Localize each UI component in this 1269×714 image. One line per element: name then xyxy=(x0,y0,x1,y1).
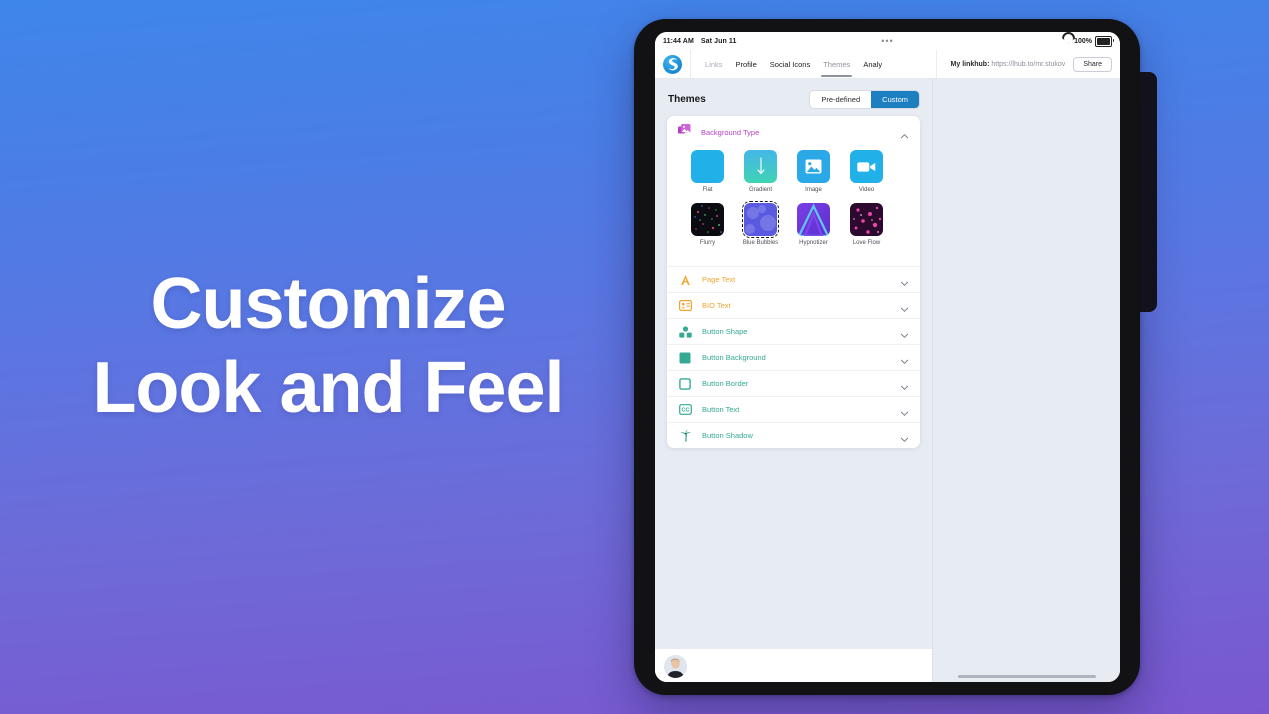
chevron-down-icon[interactable] xyxy=(900,301,909,310)
chevron-down-icon[interactable] xyxy=(900,431,909,440)
row-button-shadow[interactable]: Button Shadow xyxy=(667,423,920,448)
filled-square-icon xyxy=(678,351,692,364)
id-card-icon xyxy=(678,299,692,312)
tab-themes[interactable]: Themes xyxy=(823,54,850,75)
chevron-down-icon[interactable] xyxy=(900,275,909,284)
cc-icon: CC xyxy=(678,403,692,416)
row-bio-text[interactable]: BIO Text xyxy=(667,293,920,319)
hero-headline: Customize Look and Feel xyxy=(68,262,588,430)
segment-custom[interactable]: Custom xyxy=(871,91,919,108)
palm-tree-icon xyxy=(678,429,692,442)
row-button-text[interactable]: CC Button Text xyxy=(667,397,920,423)
background-option-love-flow[interactable]: Love Flow xyxy=(840,203,893,246)
tab-social-icons[interactable]: Social Icons xyxy=(770,54,810,75)
row-label: Button Shadow xyxy=(702,431,753,440)
background-option-label: Flat xyxy=(681,187,734,193)
nav-tabs: Links Profile Social Icons Themes Analy xyxy=(691,50,882,78)
share-button[interactable]: Share xyxy=(1073,57,1112,72)
background-option-image[interactable]: Image xyxy=(787,150,840,193)
themes-panel-header: Themes Pre-defined Custom xyxy=(655,79,932,116)
background-option-label: Video xyxy=(840,187,893,193)
image-stack-icon xyxy=(678,123,691,141)
tab-profile[interactable]: Profile xyxy=(736,54,757,75)
love-flow-icon xyxy=(850,203,883,236)
status-bar-right: 100% xyxy=(1062,36,1112,47)
background-option-label: Blue Bubbles xyxy=(734,240,787,246)
background-option-label: Flurry xyxy=(681,240,734,246)
battery-icon xyxy=(1095,36,1112,47)
workspace: Themes Pre-defined Custom xyxy=(655,79,1120,682)
theme-mode-segmented: Pre-defined Custom xyxy=(810,91,919,108)
background-option-gradient[interactable]: Gradient xyxy=(734,150,787,193)
background-option-flurry[interactable]: Flurry xyxy=(681,203,734,246)
battery-percent: 100% xyxy=(1074,38,1092,45)
row-button-shape[interactable]: Button Shape xyxy=(667,319,920,345)
outline-square-icon xyxy=(678,377,692,390)
linkhub-url[interactable]: https://lhub.to/mr.stukov xyxy=(991,61,1065,68)
app-footer xyxy=(655,649,932,682)
hypnotizer-icon xyxy=(797,203,830,236)
chevron-up-icon[interactable] xyxy=(900,128,909,137)
tablet-device: 11:44 AM Sat Jun 11 ••• 100% Links Profi… xyxy=(634,19,1140,695)
headline-line-1: Customize xyxy=(68,262,588,346)
linkhub-logo-icon[interactable] xyxy=(663,55,682,74)
blue-bubbles-icon xyxy=(744,203,777,236)
picture-icon xyxy=(797,150,830,183)
svg-text:CC: CC xyxy=(681,408,689,414)
background-option-label: Gradient xyxy=(734,187,787,193)
linkhub-label: My linkhub: xyxy=(951,61,990,68)
video-camera-icon xyxy=(850,150,883,183)
background-option-blue-bubbles[interactable]: Blue Bubbles xyxy=(734,203,787,246)
background-option-label: Image xyxy=(787,187,840,193)
tab-links[interactable]: Links xyxy=(705,54,723,75)
row-label: BIO Text xyxy=(702,301,731,310)
themes-panel: Themes Pre-defined Custom xyxy=(655,79,932,682)
row-label: Button Text xyxy=(702,405,739,414)
background-option-label: Hypnotizer xyxy=(787,240,840,246)
gradient-arrow-icon xyxy=(744,150,777,183)
status-time: 11:44 AM xyxy=(663,38,694,45)
status-bar-left: 11:44 AM Sat Jun 11 xyxy=(663,38,737,45)
row-label: Button Border xyxy=(702,379,748,388)
chevron-down-icon[interactable] xyxy=(900,353,909,362)
row-label: Button Background xyxy=(702,353,766,362)
row-button-background[interactable]: Button Background xyxy=(667,345,920,371)
page-title: Themes xyxy=(668,94,706,105)
tab-analytics[interactable]: Analy xyxy=(863,54,882,75)
chevron-down-icon[interactable] xyxy=(900,405,909,414)
theme-option-rows: Page Text BIO Text xyxy=(667,266,920,448)
letter-a-icon xyxy=(678,273,692,286)
wifi-icon xyxy=(1062,38,1071,45)
chevron-down-icon[interactable] xyxy=(900,327,909,336)
background-type-header[interactable]: Background Type xyxy=(667,116,920,148)
row-page-text[interactable]: Page Text xyxy=(667,267,920,293)
segment-pre-defined[interactable]: Pre-defined xyxy=(810,91,871,108)
tablet-screen: 11:44 AM Sat Jun 11 ••• 100% Links Profi… xyxy=(655,32,1120,682)
row-button-border[interactable]: Button Border xyxy=(667,371,920,397)
themes-card: Background Type Flat xyxy=(667,116,920,448)
status-date: Sat Jun 11 xyxy=(701,38,737,45)
background-type-grid: Flat Gradient Image xyxy=(667,148,920,266)
account-avatar[interactable] xyxy=(664,655,687,678)
background-option-hypnotizer[interactable]: Hypnotizer xyxy=(787,203,840,246)
background-option-video[interactable]: Video xyxy=(840,150,893,193)
toolbar-right: My linkhub: https://lhub.to/mr.stukov Sh… xyxy=(936,50,1120,78)
headline-line-2: Look and Feel xyxy=(68,346,588,430)
flurry-icon xyxy=(691,203,724,236)
home-indicator xyxy=(958,675,1096,678)
chevron-down-icon[interactable] xyxy=(900,379,909,388)
background-type-title: Background Type xyxy=(701,128,759,137)
status-dots: ••• xyxy=(881,37,893,45)
logo-cell xyxy=(655,50,691,78)
flat-swatch-icon xyxy=(691,150,724,183)
shapes-icon xyxy=(678,325,692,338)
row-label: Button Shape xyxy=(702,327,747,336)
background-option-label: Love Flow xyxy=(840,240,893,246)
preview-pane: @Mr.Stukov I am an engineer by day and a… xyxy=(933,79,1120,682)
app-toolbar: Links Profile Social Icons Themes Analy … xyxy=(655,50,1120,79)
linkhub-url-display: My linkhub: https://lhub.to/mr.stukov xyxy=(951,61,1066,68)
row-label: Page Text xyxy=(702,275,735,284)
background-option-flat[interactable]: Flat xyxy=(681,150,734,193)
status-bar: 11:44 AM Sat Jun 11 ••• 100% xyxy=(655,32,1120,50)
